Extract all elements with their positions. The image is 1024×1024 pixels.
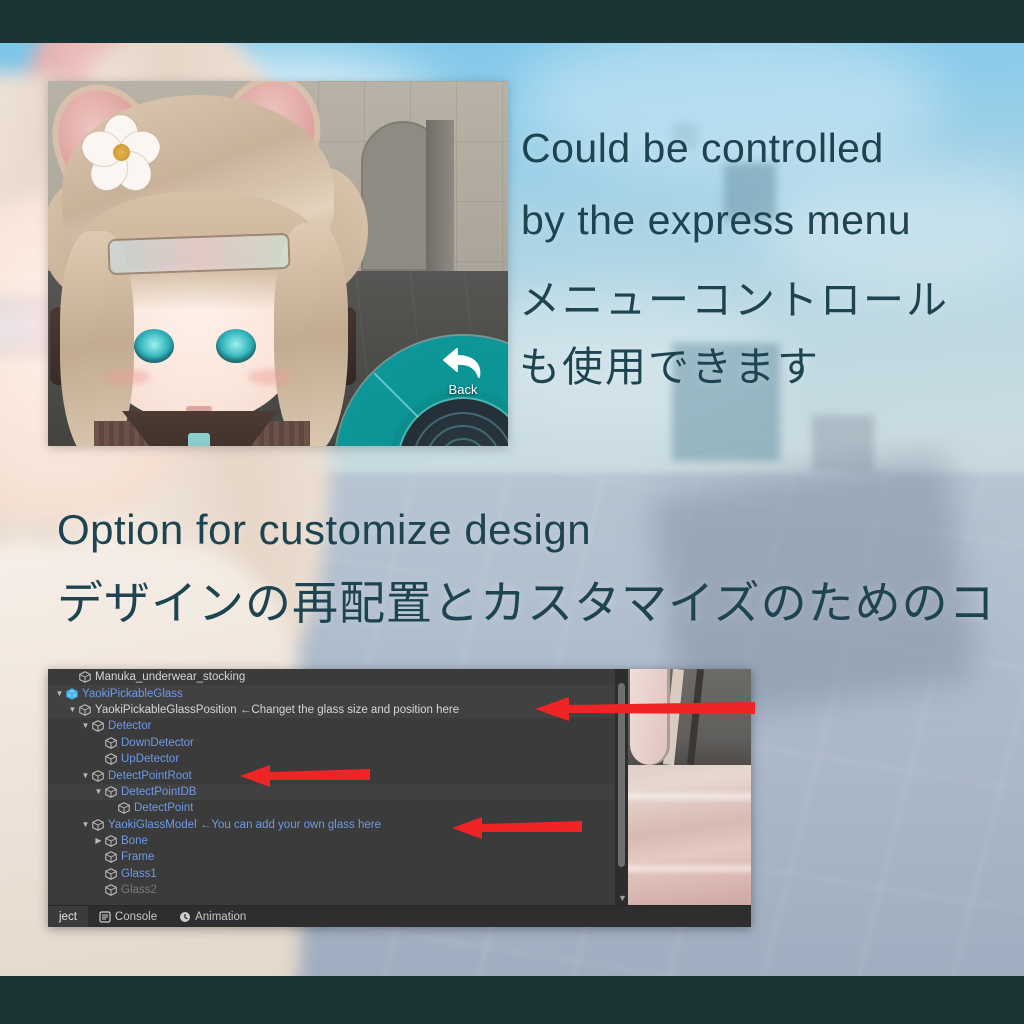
avatar-eye-right bbox=[216, 329, 256, 363]
gameobject-cube-icon bbox=[78, 670, 92, 684]
twirl-down-icon[interactable]: ▼ bbox=[54, 690, 65, 698]
gameobject-cube-icon bbox=[104, 850, 118, 864]
hierarchy-row-label: Bone bbox=[121, 835, 148, 847]
scroll-down-arrow-icon[interactable]: ▼ bbox=[618, 894, 627, 903]
hierarchy-row[interactable]: ▼UpDetector bbox=[48, 751, 628, 767]
tab-console[interactable]: Console bbox=[88, 906, 168, 927]
hierarchy-row[interactable]: ▼Glass1 bbox=[48, 866, 628, 882]
page-heading-en-line-3: Option for customize design bbox=[57, 506, 591, 554]
gameobject-cube-icon bbox=[104, 850, 118, 864]
hierarchy-row[interactable]: ▼Frame bbox=[48, 849, 628, 865]
gameobject-cube-icon bbox=[104, 834, 118, 848]
scene-stripe-dark bbox=[687, 669, 704, 765]
hierarchy-row-label: YaokiPickableGlassPosition ←Changet the … bbox=[95, 704, 459, 716]
letterbox-bar-top bbox=[0, 0, 1024, 43]
scene-highlight bbox=[628, 865, 751, 872]
flower-hair-accessory bbox=[82, 111, 160, 187]
unity-window-body: ▼Manuka_underwear_stocking▼YaokiPickable… bbox=[48, 669, 751, 905]
gameobject-cube-icon bbox=[91, 719, 105, 733]
scene-upper-region bbox=[628, 669, 751, 767]
twirl-down-icon[interactable]: ▼ bbox=[67, 706, 78, 714]
hierarchy-row-label: Glass1 bbox=[121, 868, 157, 880]
hierarchy-row-label: DetectPointRoot bbox=[108, 770, 192, 782]
radial-item-back-label: Back bbox=[449, 382, 478, 397]
radial-item-back[interactable]: Back bbox=[408, 346, 508, 399]
gameobject-cube-icon bbox=[104, 752, 118, 766]
gameobject-cube-icon bbox=[104, 883, 118, 897]
page-heading-jp-line-1: メニューコントロール bbox=[519, 266, 949, 326]
tab-label: ject bbox=[59, 911, 77, 923]
page-heading-jp-line-2: も使用できます bbox=[519, 333, 820, 393]
back-arrow-icon bbox=[441, 346, 485, 380]
console-icon bbox=[99, 911, 111, 923]
unity-editor-window: ▼Manuka_underwear_stocking▼YaokiPickable… bbox=[48, 669, 751, 927]
tab-label: Animation bbox=[195, 911, 246, 923]
page-heading-en-line-1: Could be controlled bbox=[521, 125, 884, 172]
hierarchy-row-label: YaokiGlassModel ←You can add your own gl… bbox=[108, 819, 381, 831]
hierarchy-row[interactable]: ▼YaokiGlassModel ←You can add your own g… bbox=[48, 817, 628, 833]
page-heading-jp-line-3: デザインの再配置とカスタマイズのためのコ bbox=[57, 567, 996, 633]
scene-avatar-limb bbox=[630, 669, 670, 765]
avatar-necktie bbox=[188, 433, 210, 446]
hierarchy-row-label: UpDetector bbox=[121, 753, 179, 765]
unity-bottom-tab-bar[interactable]: jectConsoleAnimation bbox=[48, 905, 751, 927]
gameobject-cube-icon bbox=[104, 736, 118, 750]
hierarchy-row[interactable]: ▼YaokiPickableGlass› bbox=[48, 685, 628, 701]
gameobject-cube-icon bbox=[104, 834, 118, 848]
tab-animation[interactable]: Animation bbox=[168, 906, 257, 927]
scene-highlight bbox=[628, 793, 751, 800]
tab-ject[interactable]: ject bbox=[48, 906, 88, 927]
gameobject-cube-icon bbox=[91, 769, 105, 783]
unity-hierarchy-panel[interactable]: ▼Manuka_underwear_stocking▼YaokiPickable… bbox=[48, 669, 628, 905]
gameobject-cube-icon bbox=[104, 785, 118, 799]
hierarchy-row[interactable]: ▼YaokiPickableGlassPosition ←Changet the… bbox=[48, 702, 628, 718]
blush-right bbox=[248, 369, 294, 385]
scrollbar-thumb[interactable] bbox=[618, 683, 625, 867]
glasses bbox=[109, 235, 288, 273]
gameobject-cube-icon bbox=[117, 801, 131, 815]
hierarchy-row[interactable]: ▼Manuka_underwear_stocking bbox=[48, 669, 628, 685]
clock-icon bbox=[179, 911, 191, 923]
hierarchy-row-list: ▼Manuka_underwear_stocking▼YaokiPickable… bbox=[48, 669, 628, 898]
avatar-character bbox=[48, 81, 358, 446]
hierarchy-row[interactable]: ▶Bone bbox=[48, 833, 628, 849]
wall-pillar bbox=[426, 120, 454, 272]
gameobject-cube-icon bbox=[104, 785, 118, 799]
scene-lower-region bbox=[628, 765, 751, 905]
gameobject-cube-icon bbox=[117, 801, 131, 815]
hierarchy-row-label: Glass2 bbox=[121, 884, 157, 896]
hierarchy-row-label: Manuka_underwear_stocking bbox=[95, 671, 245, 683]
gameobject-cube-icon bbox=[104, 867, 118, 881]
gameobject-cube-icon bbox=[91, 818, 105, 832]
twirl-down-icon[interactable]: ▼ bbox=[80, 722, 91, 730]
hierarchy-row[interactable]: ▼DownDetector bbox=[48, 735, 628, 751]
letterbox-bar-bottom bbox=[0, 976, 1024, 1024]
hierarchy-row[interactable]: ▼DetectPointDB bbox=[48, 784, 628, 800]
hierarchy-scrollbar[interactable]: ▼ bbox=[615, 669, 628, 905]
hierarchy-row[interactable]: ▼Glass2 bbox=[48, 882, 628, 898]
hierarchy-row-label: YaokiPickableGlass bbox=[82, 688, 183, 700]
twirl-right-icon[interactable]: ▶ bbox=[93, 837, 104, 845]
hierarchy-row-label: Detector bbox=[108, 720, 151, 732]
gameobject-cube-icon bbox=[78, 670, 92, 684]
vrchat-expression-radial-menu[interactable]: Back ToggleUp G bbox=[336, 336, 508, 446]
vrchat-avatar-screenshot: Back ToggleUp G bbox=[48, 81, 508, 446]
gameobject-cube-icon bbox=[91, 719, 105, 733]
gameobject-cube-icon bbox=[91, 769, 105, 783]
unity-scene-preview[interactable] bbox=[628, 669, 751, 905]
hierarchy-row-label: Frame bbox=[121, 851, 154, 863]
gameobject-cube-icon bbox=[104, 736, 118, 750]
page-heading-en-line-2: by the express menu bbox=[521, 197, 911, 244]
blush-left bbox=[104, 369, 150, 385]
gameobject-cube-icon bbox=[78, 703, 92, 717]
tab-label: Console bbox=[115, 911, 157, 923]
hierarchy-row[interactable]: ▼Detector bbox=[48, 718, 628, 734]
gameobject-cube-icon bbox=[104, 867, 118, 881]
hierarchy-row[interactable]: ▼DetectPointRoot bbox=[48, 767, 628, 783]
gameobject-cube-icon bbox=[104, 752, 118, 766]
prefab-cube-icon bbox=[65, 687, 79, 701]
hierarchy-row-label: DetectPoint bbox=[134, 802, 193, 814]
twirl-down-icon[interactable]: ▼ bbox=[80, 772, 91, 780]
gameobject-cube-icon bbox=[104, 883, 118, 897]
hierarchy-row-label: DownDetector bbox=[121, 737, 194, 749]
gameobject-cube-icon bbox=[91, 818, 105, 832]
hierarchy-row[interactable]: ▼DetectPoint bbox=[48, 800, 628, 816]
gameobject-cube-icon bbox=[78, 703, 92, 717]
prefab-cube-icon bbox=[65, 687, 79, 701]
twirl-down-icon[interactable]: ▼ bbox=[80, 821, 91, 829]
avatar-eye-left bbox=[134, 329, 174, 363]
twirl-down-icon[interactable]: ▼ bbox=[93, 788, 104, 796]
hierarchy-row-label: DetectPointDB bbox=[121, 786, 196, 798]
